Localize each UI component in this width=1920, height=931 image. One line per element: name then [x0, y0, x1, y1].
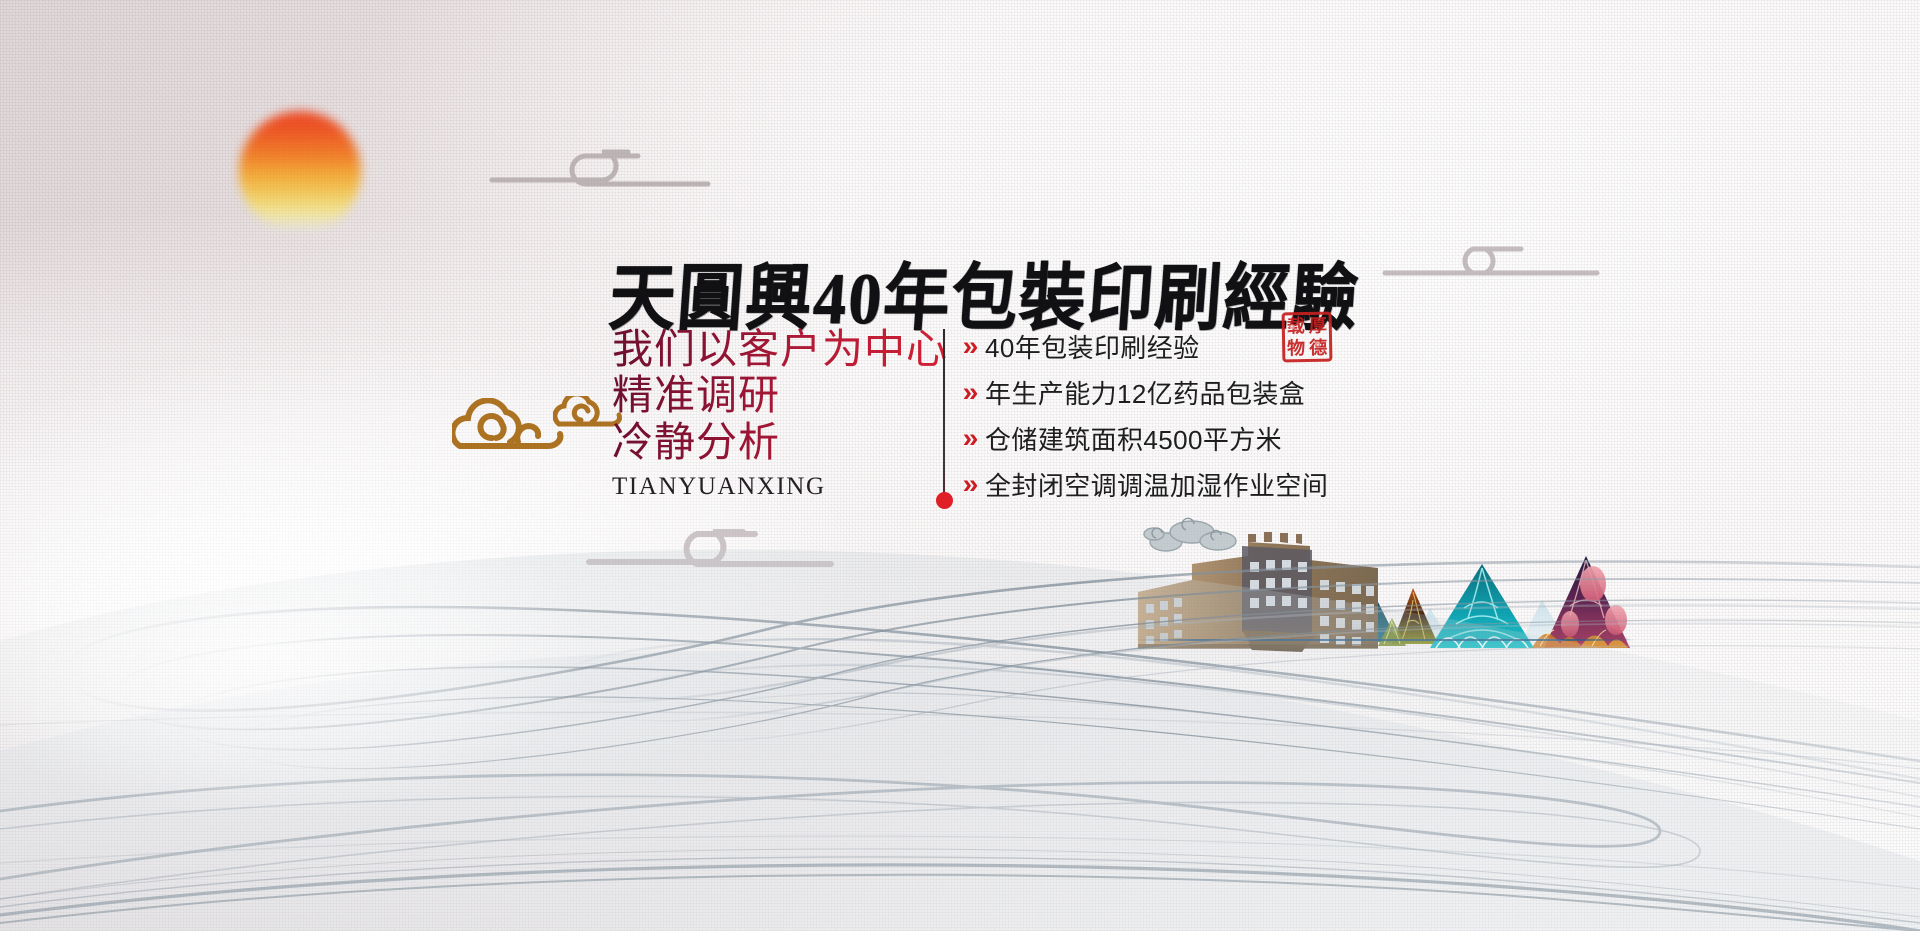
- list-item: » 仓储建筑面积4500平方米: [963, 420, 1328, 457]
- chevron-right-double-icon: »: [963, 471, 979, 498]
- slogan-block: 我们以客户为中心 精准调研 冷静分析 TIANYUANXING: [612, 326, 948, 501]
- water-line: [1135, 639, 1635, 641]
- chinese-cloud-motif-icon: [490, 152, 710, 210]
- seal-character: 载: [1285, 315, 1307, 337]
- chevron-right-double-icon: »: [963, 425, 979, 452]
- red-seal-stamp-icon: 载 厚 物 德: [1282, 312, 1333, 363]
- list-item-label: 40年包装印刷经验: [985, 328, 1200, 365]
- list-item: » 年生产能力12亿药品包装盒: [963, 374, 1328, 411]
- list-item-label: 仓储建筑面积4500平方米: [985, 420, 1282, 457]
- list-item: » 全封闭空调调温加湿作业空间: [963, 466, 1328, 503]
- sun-icon: [239, 111, 361, 233]
- feature-list: » 40年包装印刷经验 » 年生产能力12亿药品包装盒 » 仓储建筑面积4500…: [963, 328, 1328, 512]
- list-item: » 40年包装印刷经验: [963, 328, 1328, 365]
- seal-character: 德: [1307, 337, 1329, 359]
- vertical-divider: [943, 329, 945, 498]
- chinese-cloud-motif-icon: [1385, 248, 1600, 300]
- slogan-line-2: 精准调研: [612, 372, 948, 418]
- seal-character: 厚: [1307, 315, 1329, 337]
- chevron-right-double-icon: »: [963, 333, 979, 360]
- list-item-label: 年生产能力12亿药品包装盒: [985, 374, 1305, 411]
- chevron-right-double-icon: »: [963, 379, 979, 406]
- list-item-label: 全封闭空调调温加湿作业空间: [985, 466, 1328, 503]
- chinese-cloud-motif-icon: [585, 530, 835, 600]
- hero-banner: 天圓興40年包裝印刷經驗 我们以客户为中心 精准调研 冷静分析 TIANYUAN…: [0, 0, 1920, 931]
- seal-character: 物: [1285, 337, 1307, 359]
- slogan-pinyin: TIANYUANXING: [612, 473, 948, 501]
- slogan-line-3: 冷静分析: [612, 419, 948, 465]
- slogan-line-1: 我们以客户为中心: [612, 326, 948, 372]
- factory-building-illustration: [1130, 512, 1640, 682]
- accent-dot: [936, 492, 953, 509]
- scene-reflection: [1130, 616, 1640, 640]
